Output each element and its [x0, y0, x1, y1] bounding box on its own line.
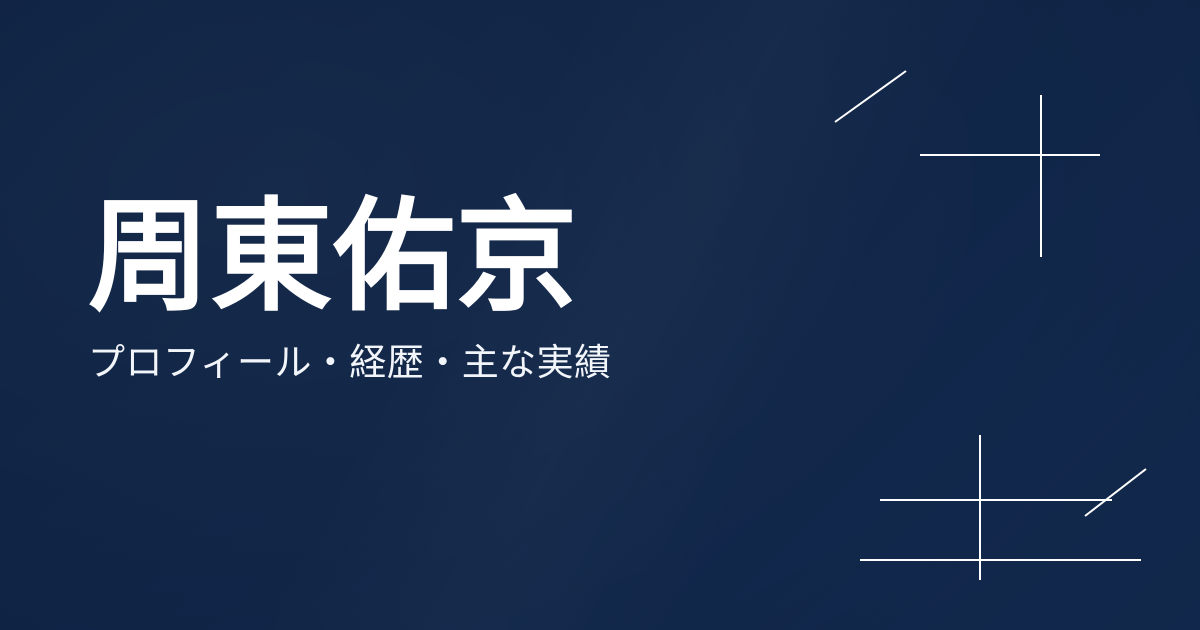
og-card: 周東佑京 プロフィール・経歴・主な実績	[0, 0, 1200, 630]
headline-block: 周東佑京 プロフィール・経歴・主な実績	[88, 196, 788, 385]
page-title: 周東佑京	[88, 196, 788, 318]
page-subtitle: プロフィール・経歴・主な実績	[88, 318, 788, 385]
